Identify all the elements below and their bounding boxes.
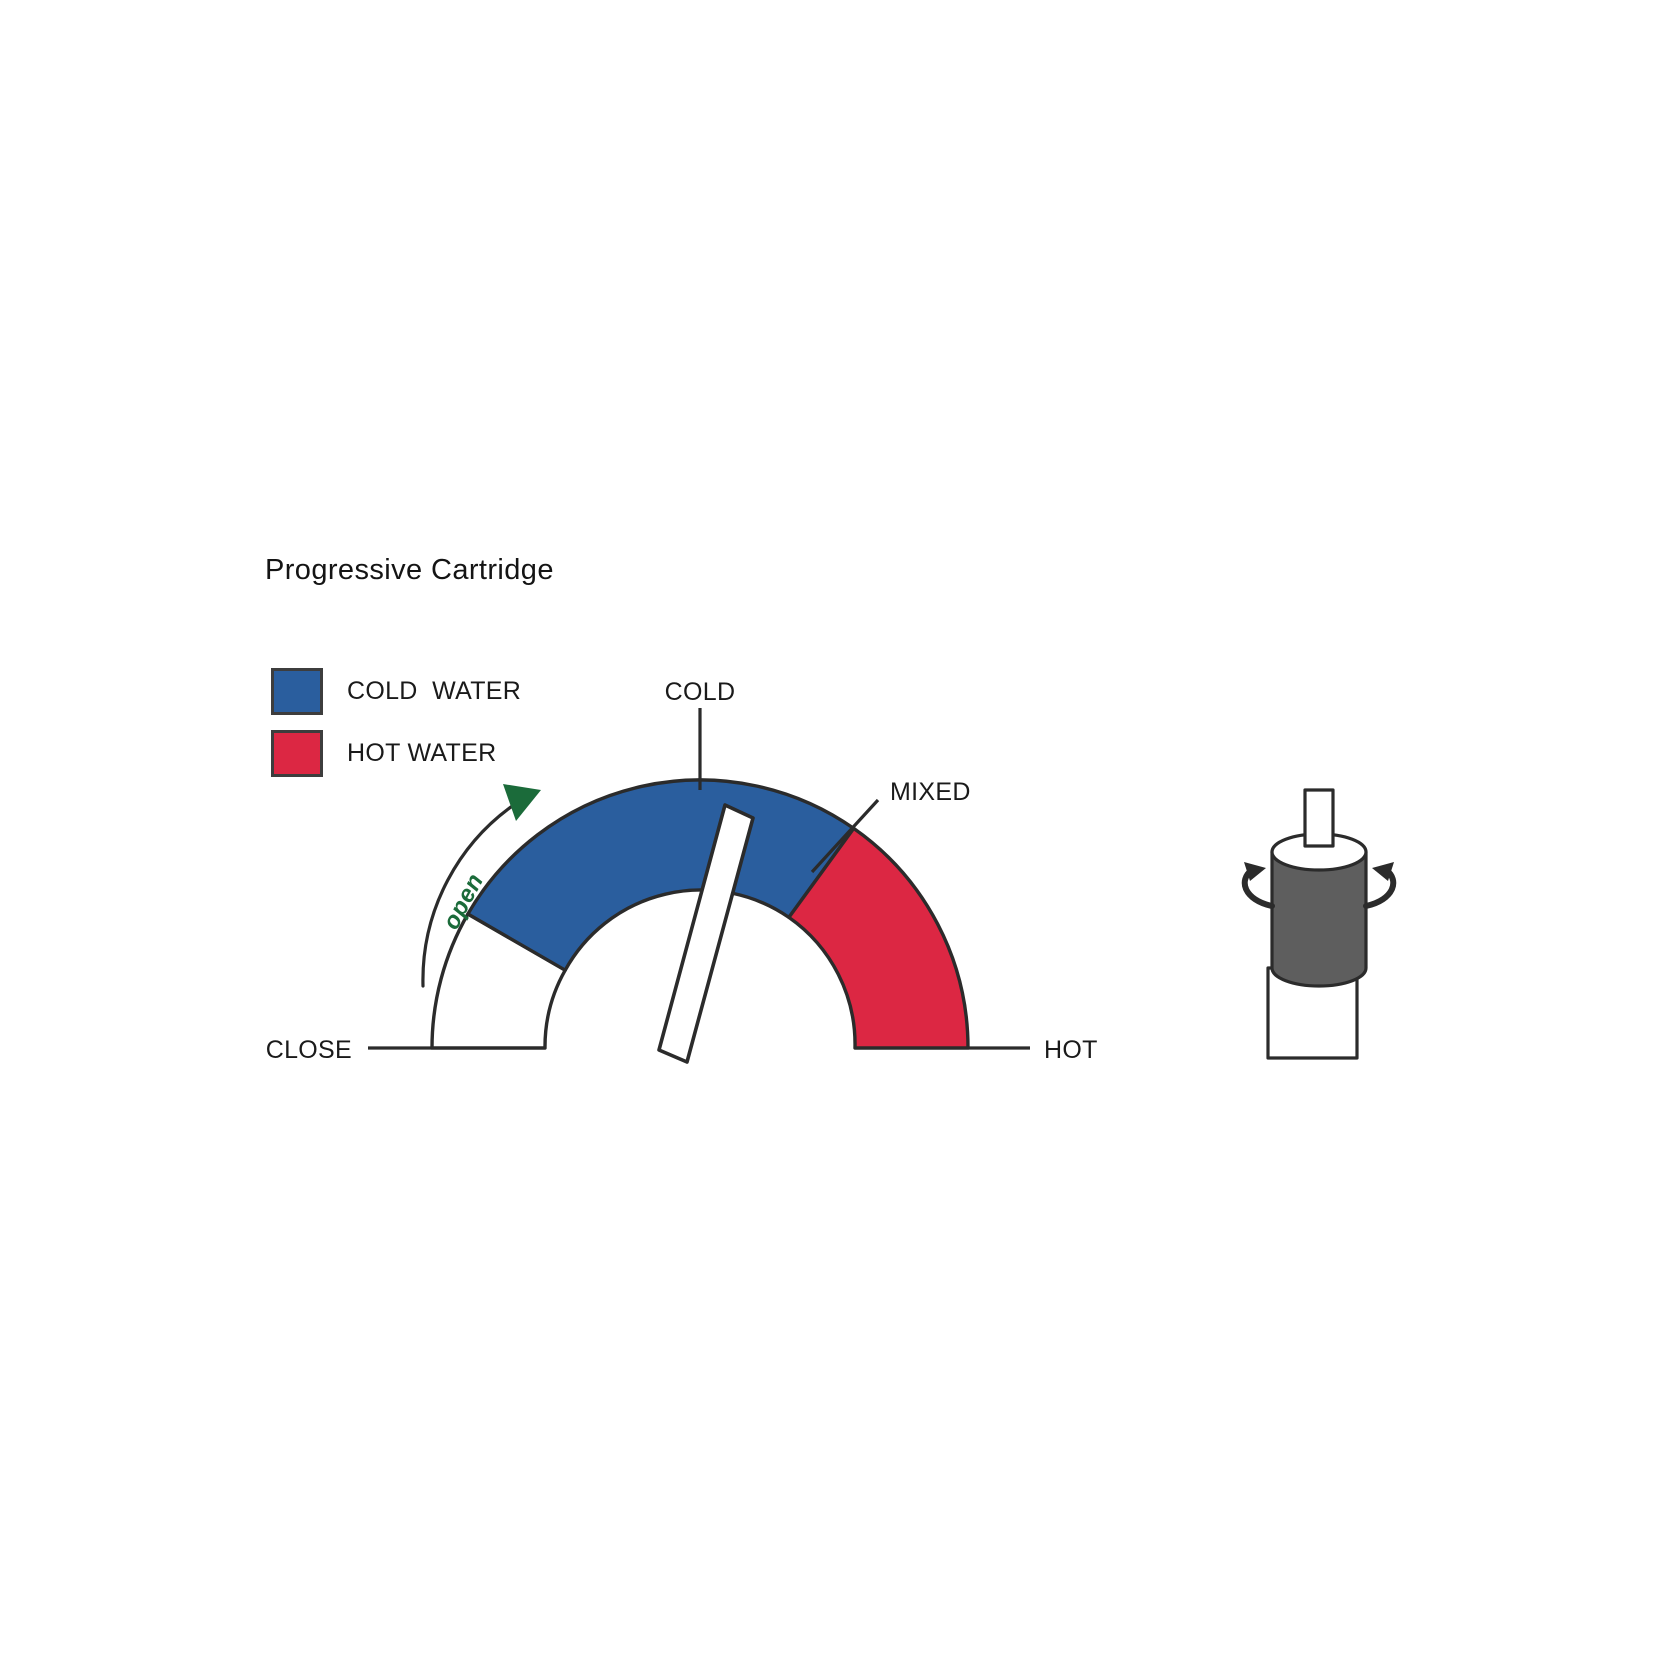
label-mixed: MIXED bbox=[890, 778, 971, 806]
mixed-leader-line bbox=[812, 800, 878, 872]
rotate-left-arrowhead-icon bbox=[1244, 862, 1266, 881]
cartridge-top-face bbox=[1272, 834, 1366, 870]
legend-item-hot-water: HOT WATER bbox=[271, 722, 521, 784]
diagram-illustration: COLD MIXED CLOSE HOT open bbox=[0, 0, 1676, 1676]
label-open: open bbox=[438, 869, 490, 934]
label-cold: COLD bbox=[665, 678, 736, 706]
cartridge-stem bbox=[1268, 968, 1357, 1058]
page-title: Progressive Cartridge bbox=[265, 554, 554, 587]
arc-segment-cold bbox=[468, 780, 854, 970]
hot-water-swatch bbox=[271, 730, 323, 777]
cold-water-swatch bbox=[271, 668, 323, 715]
arc-segment-hot bbox=[789, 828, 968, 1048]
cartridge-illustration bbox=[1244, 790, 1394, 1058]
legend: COLD WATER HOT WATER bbox=[271, 660, 521, 784]
cartridge-body bbox=[1272, 852, 1366, 986]
arc-segment-closed bbox=[432, 914, 565, 1048]
legend-label-cold-water: COLD WATER bbox=[347, 677, 521, 706]
diagram-canvas: Progressive Cartridge COLD WATER HOT WAT… bbox=[0, 0, 1676, 1676]
rotate-left-arrow-icon bbox=[1245, 870, 1272, 906]
label-hot: HOT bbox=[1044, 1036, 1098, 1064]
lever-slot bbox=[659, 805, 753, 1062]
open-arrowhead-icon bbox=[503, 784, 541, 821]
rotate-right-arrow-icon bbox=[1366, 870, 1393, 906]
label-close: CLOSE bbox=[266, 1036, 352, 1064]
cartridge-spindle bbox=[1305, 790, 1333, 846]
legend-item-cold-water: COLD WATER bbox=[271, 660, 521, 722]
rotate-right-arrowhead-icon bbox=[1372, 862, 1394, 881]
legend-label-hot-water: HOT WATER bbox=[347, 739, 496, 768]
open-arrow-curve bbox=[423, 800, 521, 986]
